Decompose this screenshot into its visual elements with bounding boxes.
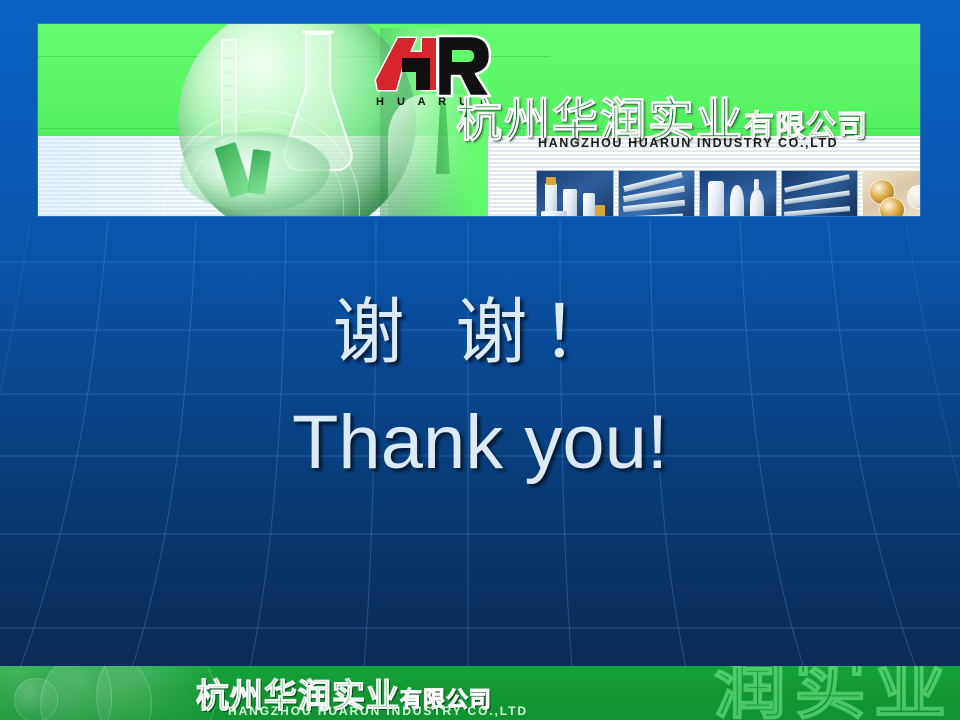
product-photo-amber-jars <box>862 170 920 216</box>
product-photo-dropper-bottles <box>699 170 777 216</box>
product-photo-syringes-pens <box>618 170 696 216</box>
slide-canvas: H U A R U N 杭州华润实业有限公司 HANGZHOU HUARUN I… <box>0 0 960 720</box>
company-header-banner: H U A R U N 杭州华润实业有限公司 HANGZHOU HUARUN I… <box>38 24 920 216</box>
footer-bubble-4 <box>14 678 58 720</box>
product-photo-spray-bottles <box>536 170 614 216</box>
company-footer-banner: 润实业 杭州华润实业有限公司 HANGZHOU HUARUN INDUSTRY … <box>0 666 960 720</box>
company-name-en: HANGZHOU HUARUN INDUSTRY CO.,LTD <box>538 136 838 150</box>
thank-you-english: Thank you! <box>0 405 960 481</box>
thank-you-chinese: 谢 谢！ <box>0 296 960 368</box>
footer-company-name-en: HANGZHOU HUARUN INDUSTRY CO.,LTD <box>228 704 528 718</box>
product-photo-needles <box>781 170 859 216</box>
product-photo-strip <box>536 170 920 216</box>
footer-ghost-wordmark: 润实业 <box>714 666 954 720</box>
